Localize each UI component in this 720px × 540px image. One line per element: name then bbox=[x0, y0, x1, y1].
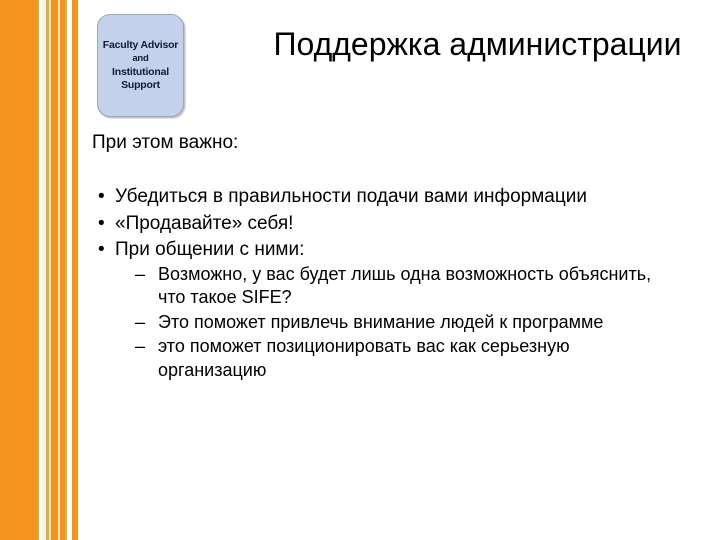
sub-bullet-item: –Возможно, у вас будет лишь одна возможн… bbox=[115, 263, 664, 310]
stripe-12 bbox=[78, 0, 86, 540]
sub-bullet-list: –Возможно, у вас будет лишь одна возможн… bbox=[115, 263, 664, 383]
sub-bullet-marker-icon: – bbox=[135, 263, 145, 287]
slide-body: При этом важно: •Убедиться в правильност… bbox=[92, 131, 664, 384]
bullet-text: При общении с ними: bbox=[115, 239, 304, 260]
sub-bullet-item: – это поможет позиционировать вас как се… bbox=[115, 335, 664, 382]
bullet-marker-icon: • bbox=[98, 185, 105, 210]
logo-line-4: Support bbox=[121, 79, 160, 93]
stripe-6 bbox=[51, 0, 58, 540]
bullet-item: •Убедиться в правильности подачи вами ин… bbox=[92, 185, 664, 210]
stripe-0 bbox=[0, 0, 36, 540]
slide-canvas: Faculty Advisor and Institutional Suppor… bbox=[0, 0, 720, 540]
sub-bullet-text: Это поможет привлечь внимание людей к пр… bbox=[158, 312, 603, 332]
sub-bullet-text: Возможно, у вас будет лишь одна возможно… bbox=[158, 264, 651, 308]
logo-line-1: Faculty Advisor bbox=[103, 39, 178, 53]
intro-text: При этом важно: bbox=[92, 131, 664, 155]
bullet-text: «Продавайте» себя! bbox=[115, 213, 293, 234]
left-stripe-decoration bbox=[0, 0, 86, 540]
sub-bullet-marker-icon: – bbox=[135, 335, 145, 359]
logo-line-3: Institutional bbox=[112, 66, 169, 80]
bullet-marker-icon: • bbox=[98, 212, 105, 237]
slide-title: Поддержка администрации bbox=[250, 24, 705, 64]
bullet-list: •Убедиться в правильности подачи вами ин… bbox=[92, 185, 664, 382]
faculty-advisor-logo: Faculty Advisor and Institutional Suppor… bbox=[97, 14, 184, 117]
bullet-marker-icon: • bbox=[98, 238, 105, 263]
bullet-item: •«Продавайте» себя! bbox=[92, 212, 664, 237]
sub-bullet-item: –Это поможет привлечь внимание людей к п… bbox=[115, 311, 664, 335]
bullet-text: Убедиться в правильности подачи вами инф… bbox=[115, 186, 587, 207]
sub-bullet-text: это поможет позиционировать вас как серь… bbox=[158, 336, 570, 380]
logo-line-2: and bbox=[132, 52, 148, 66]
bullet-item: •При общении с ними:–Возможно, у вас буд… bbox=[92, 238, 664, 382]
sub-bullet-marker-icon: – bbox=[135, 311, 145, 335]
